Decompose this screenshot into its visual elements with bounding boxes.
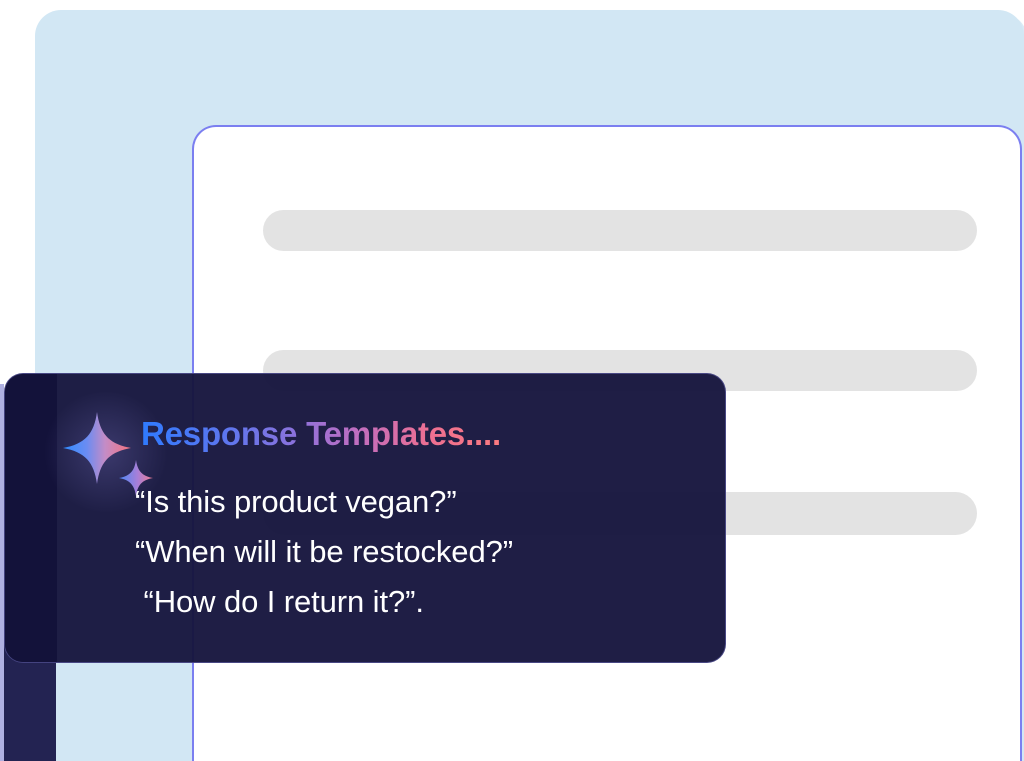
template-quote-item[interactable]: “When will it be restocked?”: [135, 527, 513, 577]
placeholder-line-1: [263, 210, 977, 251]
template-quote-list: “Is this product vegan?” “When will it b…: [135, 477, 513, 627]
response-templates-card[interactable]: Response Templates.... “Is this product …: [4, 373, 726, 663]
template-quote-item[interactable]: “Is this product vegan?”: [135, 477, 513, 527]
card-title: Response Templates....: [141, 415, 501, 453]
template-quote-item[interactable]: “How do I return it?”.: [135, 577, 513, 627]
screenshot-canvas: Response Templates.... “Is this product …: [0, 0, 1024, 761]
